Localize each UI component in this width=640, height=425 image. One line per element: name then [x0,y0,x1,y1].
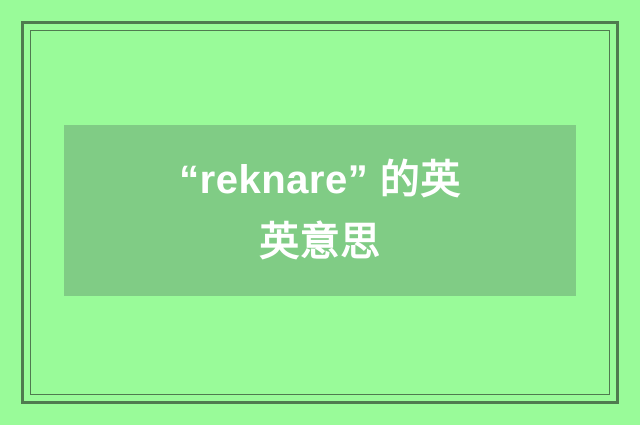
headline-text: “reknare” 的英英意思 [160,149,480,273]
image-canvas: “reknare” 的英英意思 [0,0,640,425]
headline-panel: “reknare” 的英英意思 [64,125,576,296]
